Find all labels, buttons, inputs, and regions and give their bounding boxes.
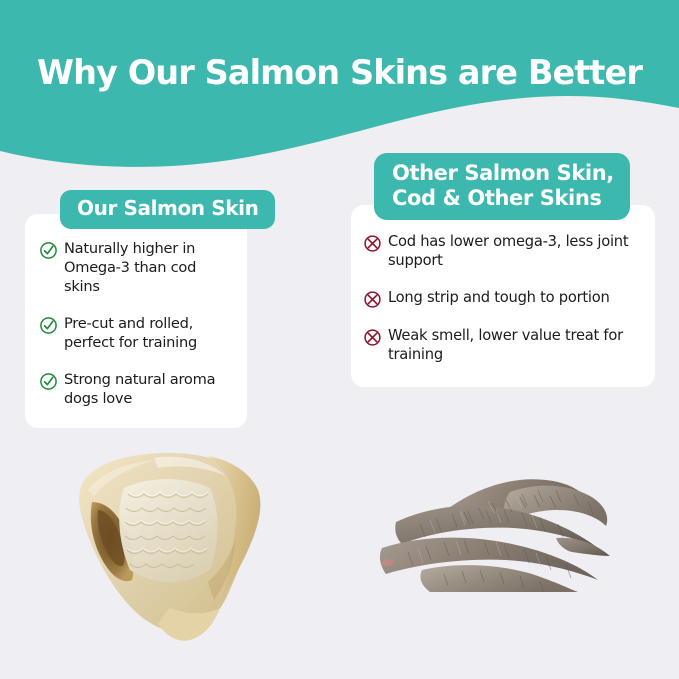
- list-item-text: Naturally higher in Omega-3 than cod ski…: [64, 239, 235, 297]
- x-circle-icon: [363, 328, 382, 347]
- badge-line-1: Other Salmon Skin,: [392, 161, 614, 186]
- badge-line-2: Cod & Other Skins: [392, 186, 614, 211]
- x-circle-icon: [363, 290, 382, 309]
- column-our-salmon-skin: Our Salmon Skin Naturally higher in Omeg…: [25, 190, 321, 428]
- x-circle-icon: [363, 234, 382, 253]
- list-item: Strong natural aroma dogs love: [39, 370, 235, 409]
- check-circle-icon: [39, 372, 58, 391]
- column-other-skins: Other Salmon Skin, Cod & Other Skins Cod…: [351, 153, 655, 387]
- card-our-salmon-skin-benefits: Naturally higher in Omega-3 than cod ski…: [25, 214, 247, 429]
- list-item: Cod has lower omega-3, less joint suppor…: [363, 232, 641, 271]
- list-item-text: Pre-cut and rolled, perfect for training: [64, 314, 235, 353]
- list-item: Pre-cut and rolled, perfect for training: [39, 314, 235, 353]
- infographic-page: Why Our Salmon Skins are Better: [0, 0, 679, 679]
- check-circle-icon: [39, 241, 58, 260]
- list-item-text: Weak smell, lower value treat for traini…: [388, 326, 641, 365]
- badge-other-salmon-cod-skins: Other Salmon Skin, Cod & Other Skins: [374, 153, 630, 220]
- check-circle-icon: [39, 316, 58, 335]
- badge-our-salmon-skin: Our Salmon Skin: [60, 190, 275, 229]
- list-item: Weak smell, lower value treat for traini…: [363, 326, 641, 365]
- card-other-skins-drawbacks: Cod has lower omega-3, less joint suppor…: [351, 205, 655, 387]
- list-item: Long strip and tough to portion: [363, 288, 641, 309]
- list-item-text: Cod has lower omega-3, less joint suppor…: [388, 232, 641, 271]
- list-item-text: Strong natural aroma dogs love: [64, 370, 235, 409]
- list-item-text: Long strip and tough to portion: [388, 288, 610, 308]
- comparison-columns: Our Salmon Skin Naturally higher in Omeg…: [0, 0, 679, 679]
- list-item: Naturally higher in Omega-3 than cod ski…: [39, 239, 235, 297]
